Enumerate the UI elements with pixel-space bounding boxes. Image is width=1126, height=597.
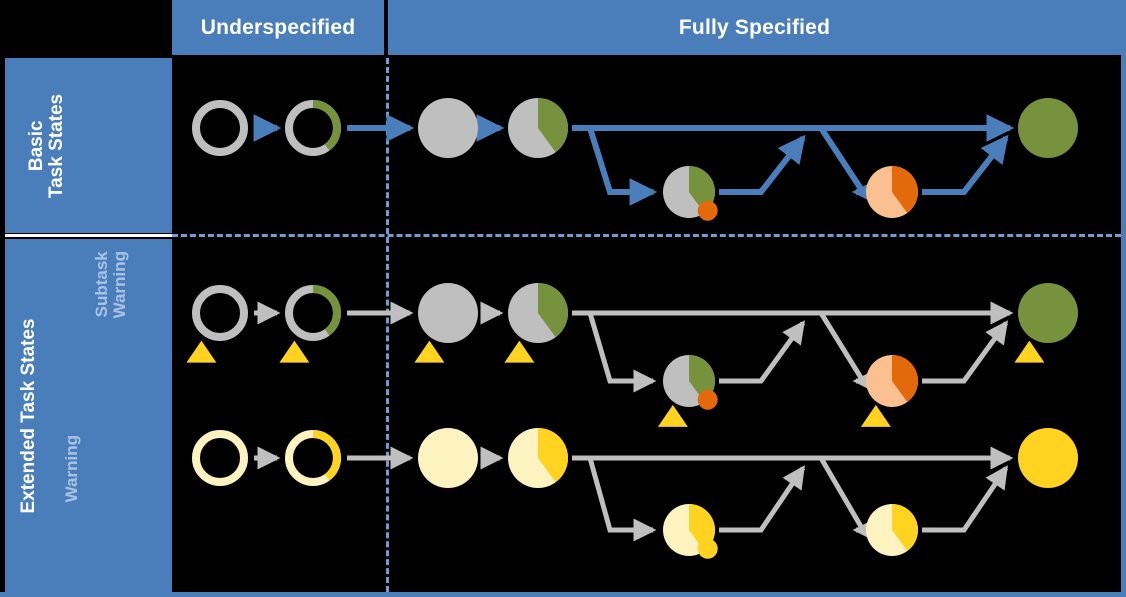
task-node-b3[interactable] (418, 98, 478, 158)
task-node-ring-track (196, 434, 244, 482)
task-node-disc (508, 283, 568, 343)
transition-arrow-dip-out (719, 138, 803, 192)
task-node-disc (508, 428, 568, 488)
task-node-w7[interactable] (1018, 428, 1078, 488)
diagram-row-warning (196, 428, 1078, 559)
warning-triangle-icon (186, 341, 216, 363)
task-node-disc (866, 504, 918, 556)
task-node-pie-slice (538, 98, 568, 152)
column-header-underspecified-label: Underspecified (201, 16, 356, 40)
row-divider-sidebar (5, 234, 172, 237)
task-node-pie-slice (892, 504, 918, 551)
row-divider-horizontal (172, 234, 1121, 237)
task-node-b7[interactable] (1018, 98, 1078, 158)
transition-arrow-dip2-out (922, 323, 1006, 381)
task-node-ring-track (289, 434, 337, 482)
task-node-s2[interactable] (279, 289, 337, 363)
column-header-fully-specified-label: Fully Specified (679, 16, 830, 40)
task-node-pie-slice (689, 355, 715, 402)
task-node-s3[interactable] (414, 283, 478, 363)
warning-triangle-icon (861, 405, 891, 427)
task-node-disc (1018, 98, 1078, 158)
sidebar-group-basic-task-states: Basic Task States (5, 58, 172, 233)
sidebar-sublabel-subtask-warning: Subtask Warning (93, 251, 129, 318)
task-node-disc (508, 98, 568, 158)
task-node-b6[interactable] (866, 166, 918, 218)
task-node-ring-progress (313, 434, 337, 477)
transition-arrow-dip2-out (922, 138, 1006, 192)
task-node-pie-slice (538, 283, 568, 337)
diagram-row-subtask-warning (186, 283, 1078, 427)
task-node-disc (418, 98, 478, 158)
task-node-s1[interactable] (186, 289, 244, 363)
transition-arrow-dip-in (590, 128, 653, 192)
transition-arrow-dip-in (590, 458, 653, 530)
task-node-b4[interactable] (508, 98, 568, 158)
task-node-w5[interactable] (663, 504, 718, 559)
warning-triangle-icon (658, 405, 688, 427)
sidebar-group-basic-label: Basic Task States (27, 93, 67, 197)
task-node-disc (1018, 283, 1078, 343)
diagram-root: Underspecified Fully Specified Basic Tas… (0, 0, 1126, 597)
task-node-s4[interactable] (504, 283, 568, 363)
sidebar-sublabel-warning: Warning (63, 435, 81, 502)
task-node-w3[interactable] (418, 428, 478, 488)
task-node-b2[interactable] (289, 104, 337, 152)
transition-arrow-dip2-in (821, 313, 863, 381)
task-node-pie-slice (689, 166, 715, 213)
task-node-disc (418, 283, 478, 343)
task-node-pie-slice (538, 428, 568, 482)
warning-triangle-icon (504, 341, 534, 363)
task-node-s7[interactable] (1014, 283, 1078, 363)
task-node-pie-slice (689, 504, 715, 551)
task-node-pie-slice (892, 355, 918, 402)
task-node-w1[interactable] (196, 434, 244, 482)
task-node-disc (1018, 428, 1078, 488)
transition-arrow-dip2-out (922, 468, 1006, 530)
warning-triangle-icon (414, 341, 444, 363)
task-node-pie-slice (892, 166, 918, 213)
frame-bottom-edge (0, 592, 1126, 597)
task-node-b1[interactable] (196, 104, 244, 152)
transition-arrow-dip2-in (821, 458, 863, 530)
column-divider-vertical (386, 58, 389, 592)
subtask-badge-dot-icon (698, 201, 718, 221)
warning-triangle-icon (1014, 341, 1044, 363)
task-node-disc (663, 504, 715, 556)
task-node-w2[interactable] (289, 434, 337, 482)
task-node-disc (866, 166, 918, 218)
subtask-badge-dot-icon (698, 539, 718, 559)
transition-arrow-dip2-in (821, 128, 863, 192)
task-node-w6[interactable] (866, 504, 918, 556)
task-node-disc (418, 428, 478, 488)
subtask-badge-dot-icon (698, 390, 718, 410)
task-node-ring-progress (313, 289, 337, 332)
task-node-ring-track (196, 289, 244, 337)
diagram-row-basic-task-states (196, 98, 1078, 221)
column-header-fully-specified: Fully Specified (388, 0, 1121, 55)
sidebar-group-extended-label: Extended Task States (19, 318, 39, 513)
task-node-b5[interactable] (663, 166, 718, 221)
transition-arrow-dip-in (590, 313, 653, 381)
transition-arrow-dip-out (719, 468, 803, 530)
task-node-disc (866, 355, 918, 407)
task-node-disc (663, 355, 715, 407)
task-node-ring-track (289, 104, 337, 152)
task-node-disc (663, 166, 715, 218)
task-node-ring-track (289, 289, 337, 337)
task-node-w4[interactable] (508, 428, 568, 488)
frame-right-edge (1121, 0, 1126, 597)
sidebar-group-extended-task-states: Extended Task States Subtask Warning War… (5, 239, 172, 592)
transition-arrow-dip-out (719, 323, 803, 381)
task-node-s6[interactable] (861, 355, 918, 427)
column-header-underspecified: Underspecified (172, 0, 384, 55)
warning-triangle-icon (279, 341, 309, 363)
task-node-ring-track (196, 104, 244, 152)
task-node-ring-progress (313, 104, 337, 147)
task-node-s5[interactable] (658, 355, 718, 427)
